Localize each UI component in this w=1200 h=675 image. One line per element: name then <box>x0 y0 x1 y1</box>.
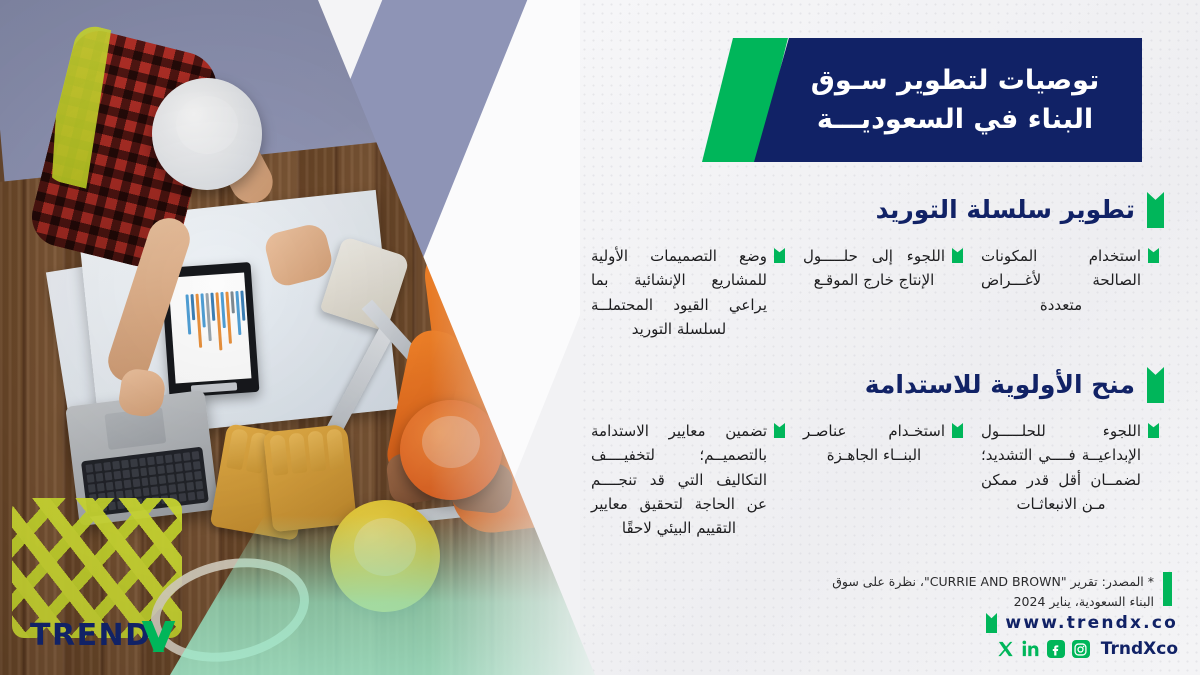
bullet-flag-icon <box>952 248 963 263</box>
bullet-flag-icon <box>1148 423 1159 438</box>
source-text: * المصدر: تقرير "CURRIE AND BROWN"، نظرة… <box>824 572 1154 613</box>
linkedin-icon[interactable] <box>1022 640 1040 658</box>
section-heading-row: تطوير سلسلة التوريد <box>578 192 1178 228</box>
title-banner: توصيات لتطوير سـوق البناء في السعوديـــة <box>702 38 1142 162</box>
bullet-flag-icon <box>774 423 785 438</box>
page-title-line-1: توصيات لتطوير سـوق <box>811 65 1099 96</box>
bullet-row: استخدام المكونات الصالحة لأغـــراض متعدد… <box>578 244 1178 341</box>
bullet-item: اللجوء للحلـــــول الإبداعيــة فــــي ال… <box>972 419 1168 540</box>
green-bookmark-flag-icon <box>1147 367 1164 403</box>
bullet-flag-icon <box>774 248 785 263</box>
bullet-text: وضع التصميمات الأولية للمشاريع الإنشائية… <box>591 244 767 341</box>
bullet-text: اللجوء إلى حلـــــول الإنتاج خارج الموقـ… <box>803 244 945 293</box>
website-row[interactable]: www.trendx.co <box>986 613 1178 633</box>
content-column: تطوير سلسلة التوريد استخدام المكونات الص… <box>578 192 1178 567</box>
facebook-icon[interactable] <box>1047 640 1065 658</box>
x-twitter-icon[interactable] <box>997 640 1015 658</box>
bullet-text: اللجوء للحلـــــول الإبداعيــة فــــي ال… <box>981 419 1141 516</box>
green-bookmark-flag-icon <box>1147 192 1164 228</box>
logo-wordmark: TREND <box>30 618 152 653</box>
page-title-line-2: البناء في السعوديـــة <box>817 104 1093 135</box>
social-row: TrndXco <box>986 639 1178 659</box>
source-accent-bar <box>1163 572 1172 606</box>
section-heading-row: منح الأولوية للاستدامة <box>578 367 1178 403</box>
bullet-flag-icon <box>1148 248 1159 263</box>
banner-navy-body: توصيات لتطوير سـوق البناء في السعوديـــة <box>754 38 1142 162</box>
source-note: * المصدر: تقرير "CURRIE AND BROWN"، نظرة… <box>824 572 1172 613</box>
instagram-icon[interactable] <box>1072 640 1090 658</box>
infographic-canvas: توصيات لتطوير سـوق البناء في السعوديـــة… <box>0 0 1200 675</box>
section-heading-text: تطوير سلسلة التوريد <box>876 195 1135 225</box>
bullet-item: استخـدام عناصـر البنــاء الجاهـزة <box>794 419 972 540</box>
section-heading-text: منح الأولوية للاستدامة <box>865 370 1135 400</box>
page-title: توصيات لتطوير سـوق البناء في السعوديـــة <box>771 61 1125 139</box>
logo-x-mark-icon <box>146 622 172 650</box>
bullet-item: اللجوء إلى حلـــــول الإنتاج خارج الموقـ… <box>794 244 972 341</box>
section-supply-chain: تطوير سلسلة التوريد استخدام المكونات الص… <box>578 192 1178 341</box>
footer-flag-icon <box>986 613 997 633</box>
footer-contact: www.trendx.co <box>986 613 1178 659</box>
bullet-flag-icon <box>952 423 963 438</box>
social-handle[interactable]: TrndXco <box>1101 639 1178 659</box>
bullet-item: استخدام المكونات الصالحة لأغـــراض متعدد… <box>972 244 1168 341</box>
bullet-item: وضع التصميمات الأولية للمشاريع الإنشائية… <box>582 244 794 341</box>
trendx-logo[interactable]: TREND <box>30 618 172 653</box>
bullet-text: استخـدام عناصـر البنــاء الجاهـزة <box>803 419 945 468</box>
website-url[interactable]: www.trendx.co <box>1005 613 1178 633</box>
bullet-text: تضمين معايير الاستدامة بالتصميــم؛ لتخفي… <box>591 419 767 540</box>
bullet-row: اللجوء للحلـــــول الإبداعيــة فــــي ال… <box>578 419 1178 540</box>
bullet-item: تضمين معايير الاستدامة بالتصميــم؛ لتخفي… <box>582 419 794 540</box>
bullet-text: استخدام المكونات الصالحة لأغـــراض متعدد… <box>981 244 1141 317</box>
section-sustainability: منح الأولوية للاستدامة اللجوء للحلـــــو… <box>578 367 1178 540</box>
